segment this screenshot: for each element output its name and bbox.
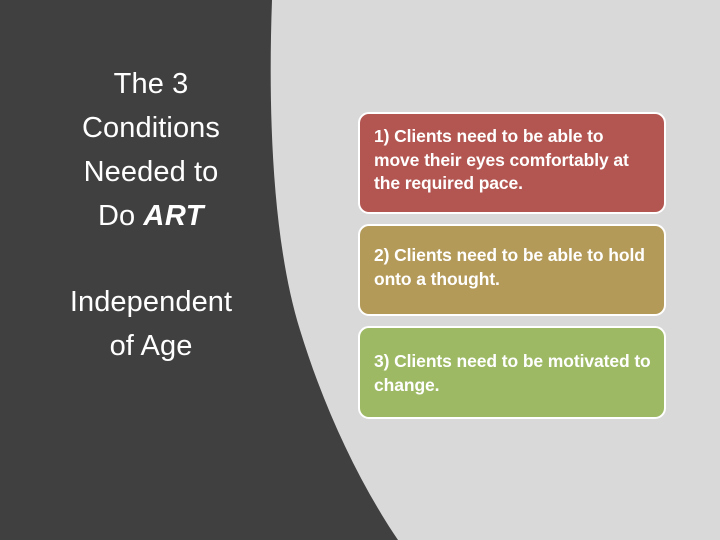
slide-title: The 3 Conditions Needed to Do ART Indepe… (22, 62, 280, 368)
subtitle-line-2: of Age (22, 324, 280, 368)
conditions-list: 1) Clients need to be able to move their… (358, 112, 666, 429)
title-line-2: Conditions (22, 106, 280, 150)
condition-box-2: 2) Clients need to be able to hold onto … (358, 224, 666, 316)
title-do-text: Do (98, 200, 143, 232)
condition-box-1: 1) Clients need to be able to move their… (358, 112, 666, 214)
title-line-3: Needed to (22, 150, 280, 194)
subtitle-line-1: Independent (22, 280, 280, 324)
condition-box-3: 3) Clients need to be motivated to chang… (358, 326, 666, 419)
title-line-1: The 3 (22, 62, 280, 106)
slide-canvas: The 3 Conditions Needed to Do ART Indepe… (0, 0, 720, 540)
title-art-emphasis: ART (143, 200, 204, 232)
title-spacer (22, 238, 280, 280)
title-line-4: Do ART (22, 194, 280, 238)
